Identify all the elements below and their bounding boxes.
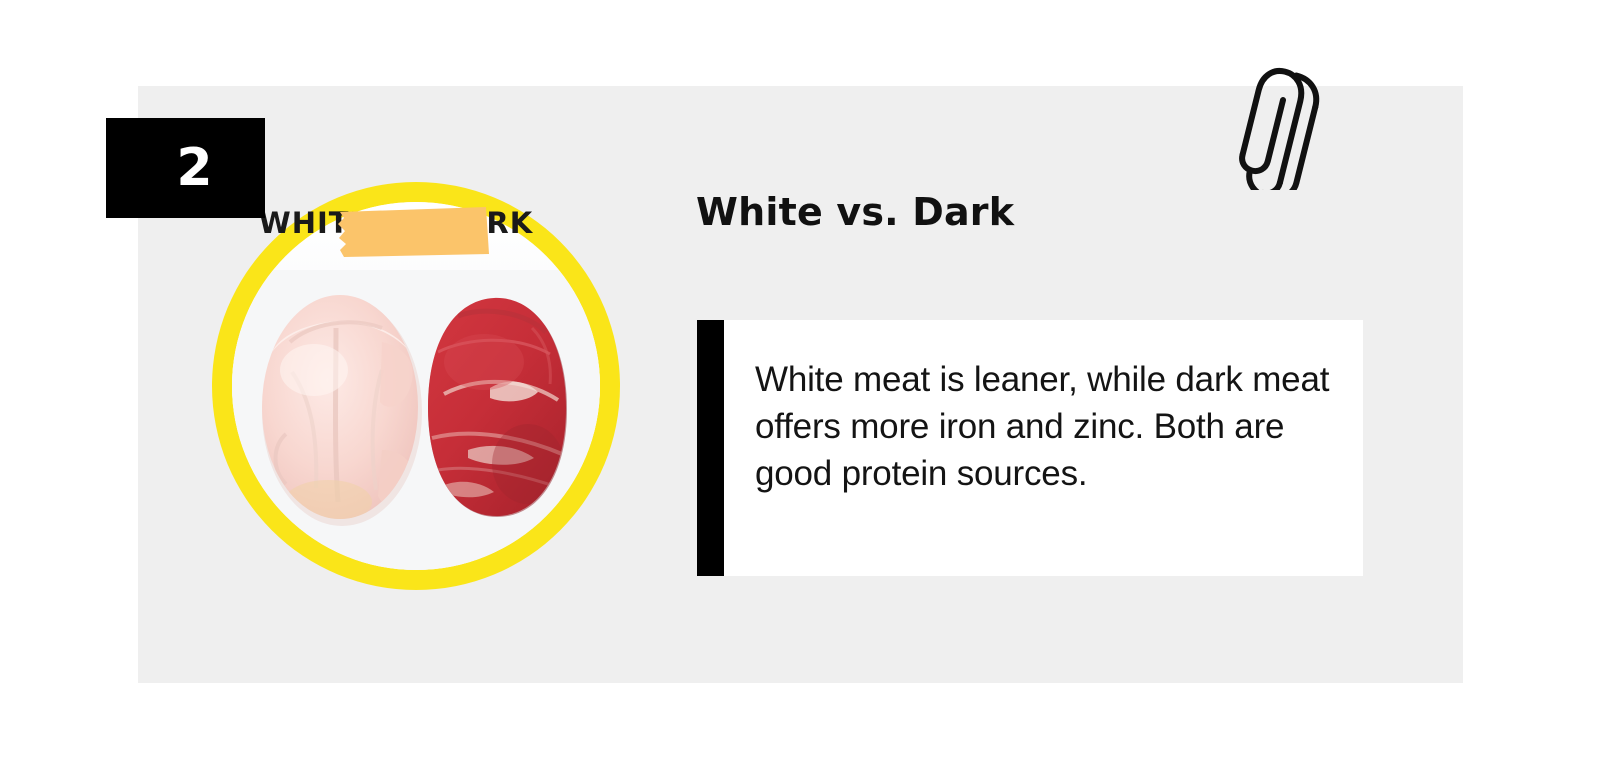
callout-text: White meat is leaner, while dark meat of… <box>755 356 1355 497</box>
step-number-label: 2 <box>176 142 212 194</box>
callout-accent-bar <box>697 320 724 576</box>
step-number-badge: 2 <box>106 118 265 218</box>
paperclip-icon <box>1232 60 1336 190</box>
callout-body: White meat is leaner, while dark meat of… <box>724 320 1363 576</box>
callout-box: White meat is leaner, while dark meat of… <box>697 320 1363 576</box>
page-title: White vs. Dark <box>696 190 1014 234</box>
masking-tape-icon <box>336 206 492 258</box>
